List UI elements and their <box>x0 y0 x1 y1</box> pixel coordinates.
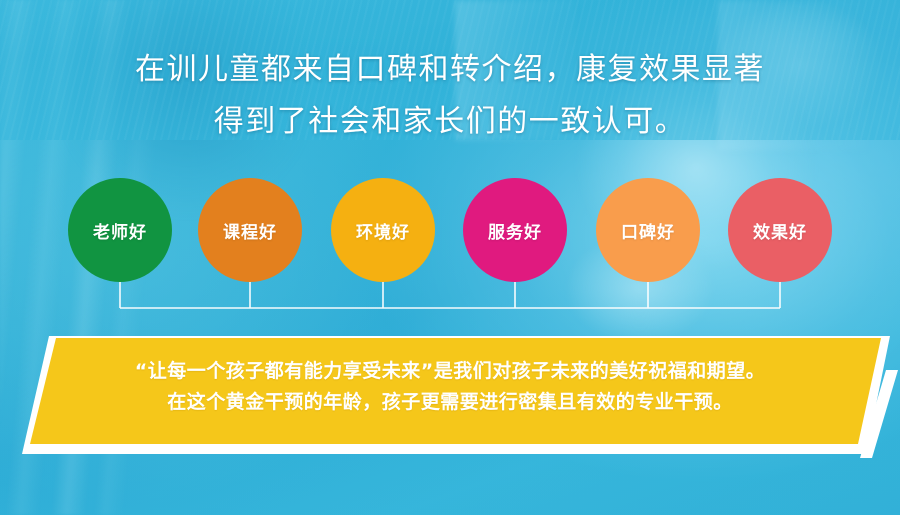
badge-label: 效果好 <box>753 218 807 243</box>
badge-label: 服务好 <box>488 218 542 243</box>
badge-label: 老师好 <box>93 218 147 243</box>
promo-banner-root: 在训儿童都来自口碑和转介绍，康复效果显著 得到了社会和家长们的一致认可。 老师好… <box>0 0 900 515</box>
headline-line-2: 得到了社会和家长们的一致认可。 <box>0 96 900 148</box>
banner-line-2: 在这个黄金干预的年龄，孩子更需要进行密集且有效的专业干预。 <box>0 387 900 418</box>
headline-line-1: 在训儿童都来自口碑和转介绍，康复效果显著 <box>0 44 900 96</box>
badge-circle[interactable]: 环境好 <box>331 178 435 282</box>
banner-line-1: “让每一个孩子都有能力享受未来”是我们对孩子未来的美好祝福和期望。 <box>0 356 900 387</box>
badge-circle[interactable]: 效果好 <box>728 178 832 282</box>
badge-circle[interactable]: 课程好 <box>198 178 302 282</box>
badge-circle[interactable]: 服务好 <box>463 178 567 282</box>
badge-circle[interactable]: 口碑好 <box>596 178 700 282</box>
badge-row: 老师好课程好环境好服务好口碑好效果好 <box>0 178 900 288</box>
badge-label: 环境好 <box>356 218 410 243</box>
bottom-banner: “让每一个孩子都有能力享受未来”是我们对孩子未来的美好祝福和期望。 在这个黄金干… <box>0 330 900 460</box>
banner-text: “让每一个孩子都有能力享受未来”是我们对孩子未来的美好祝福和期望。 在这个黄金干… <box>0 356 900 418</box>
badge-label: 课程好 <box>223 218 277 243</box>
badge-label: 口碑好 <box>621 218 675 243</box>
badge-circle[interactable]: 老师好 <box>68 178 172 282</box>
headline: 在训儿童都来自口碑和转介绍，康复效果显著 得到了社会和家长们的一致认可。 <box>0 44 900 148</box>
